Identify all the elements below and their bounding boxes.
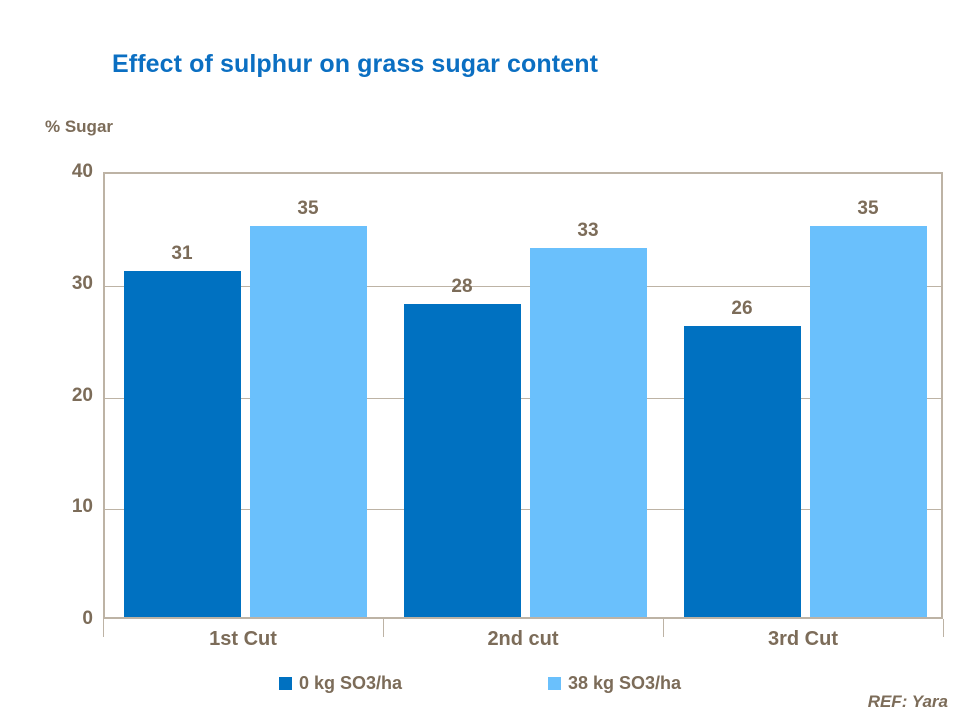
bar-value-label: 35 [857, 198, 878, 220]
bar-1st-cut-series-0[interactable] [124, 271, 241, 617]
chart-legend: 0 kg SO3/ha38 kg SO3/ha [0, 673, 960, 694]
legend-item-0[interactable]: 0 kg SO3/ha [279, 673, 402, 694]
bar-value-label: 31 [171, 243, 192, 265]
bar-value-label: 33 [577, 220, 598, 242]
bar-value-label: 26 [731, 298, 752, 320]
x-axis-category-label: 3rd Cut [768, 628, 838, 651]
bar-value-label: 35 [297, 198, 318, 220]
y-axis-tick-label: 10 [33, 496, 93, 518]
plot-area: 313528332635 [103, 172, 943, 619]
bar-1st-cut-series-1[interactable] [250, 226, 367, 617]
bar-3rd-cut-series-0[interactable] [684, 326, 801, 617]
x-axis-tick [103, 619, 104, 637]
legend-swatch-icon [279, 677, 292, 690]
legend-item-1[interactable]: 38 kg SO3/ha [548, 673, 681, 694]
reference-note: REF: Yara [868, 692, 948, 712]
legend-label: 38 kg SO3/ha [568, 673, 681, 694]
legend-label: 0 kg SO3/ha [299, 673, 402, 694]
x-axis-tick [383, 619, 384, 637]
chart-title: Effect of sulphur on grass sugar content [112, 50, 598, 79]
y-axis-tick-label: 0 [33, 608, 93, 630]
y-axis-tick-label: 30 [33, 273, 93, 295]
y-axis-tick-label: 40 [33, 161, 93, 183]
x-axis-category-label: 2nd cut [487, 628, 558, 651]
legend-swatch-icon [548, 677, 561, 690]
y-axis-tick-labels: 010203040 [33, 172, 93, 619]
bar-2nd-cut-series-0[interactable] [404, 304, 521, 617]
bar-3rd-cut-series-1[interactable] [810, 226, 927, 617]
y-axis-title: % Sugar [45, 117, 113, 137]
x-axis-tick [663, 619, 664, 637]
bar-value-label: 28 [451, 276, 472, 298]
x-axis-tick [943, 619, 944, 637]
bar-2nd-cut-series-1[interactable] [530, 248, 647, 617]
x-axis-category-label: 1st Cut [209, 628, 277, 651]
y-axis-tick-label: 20 [33, 385, 93, 407]
